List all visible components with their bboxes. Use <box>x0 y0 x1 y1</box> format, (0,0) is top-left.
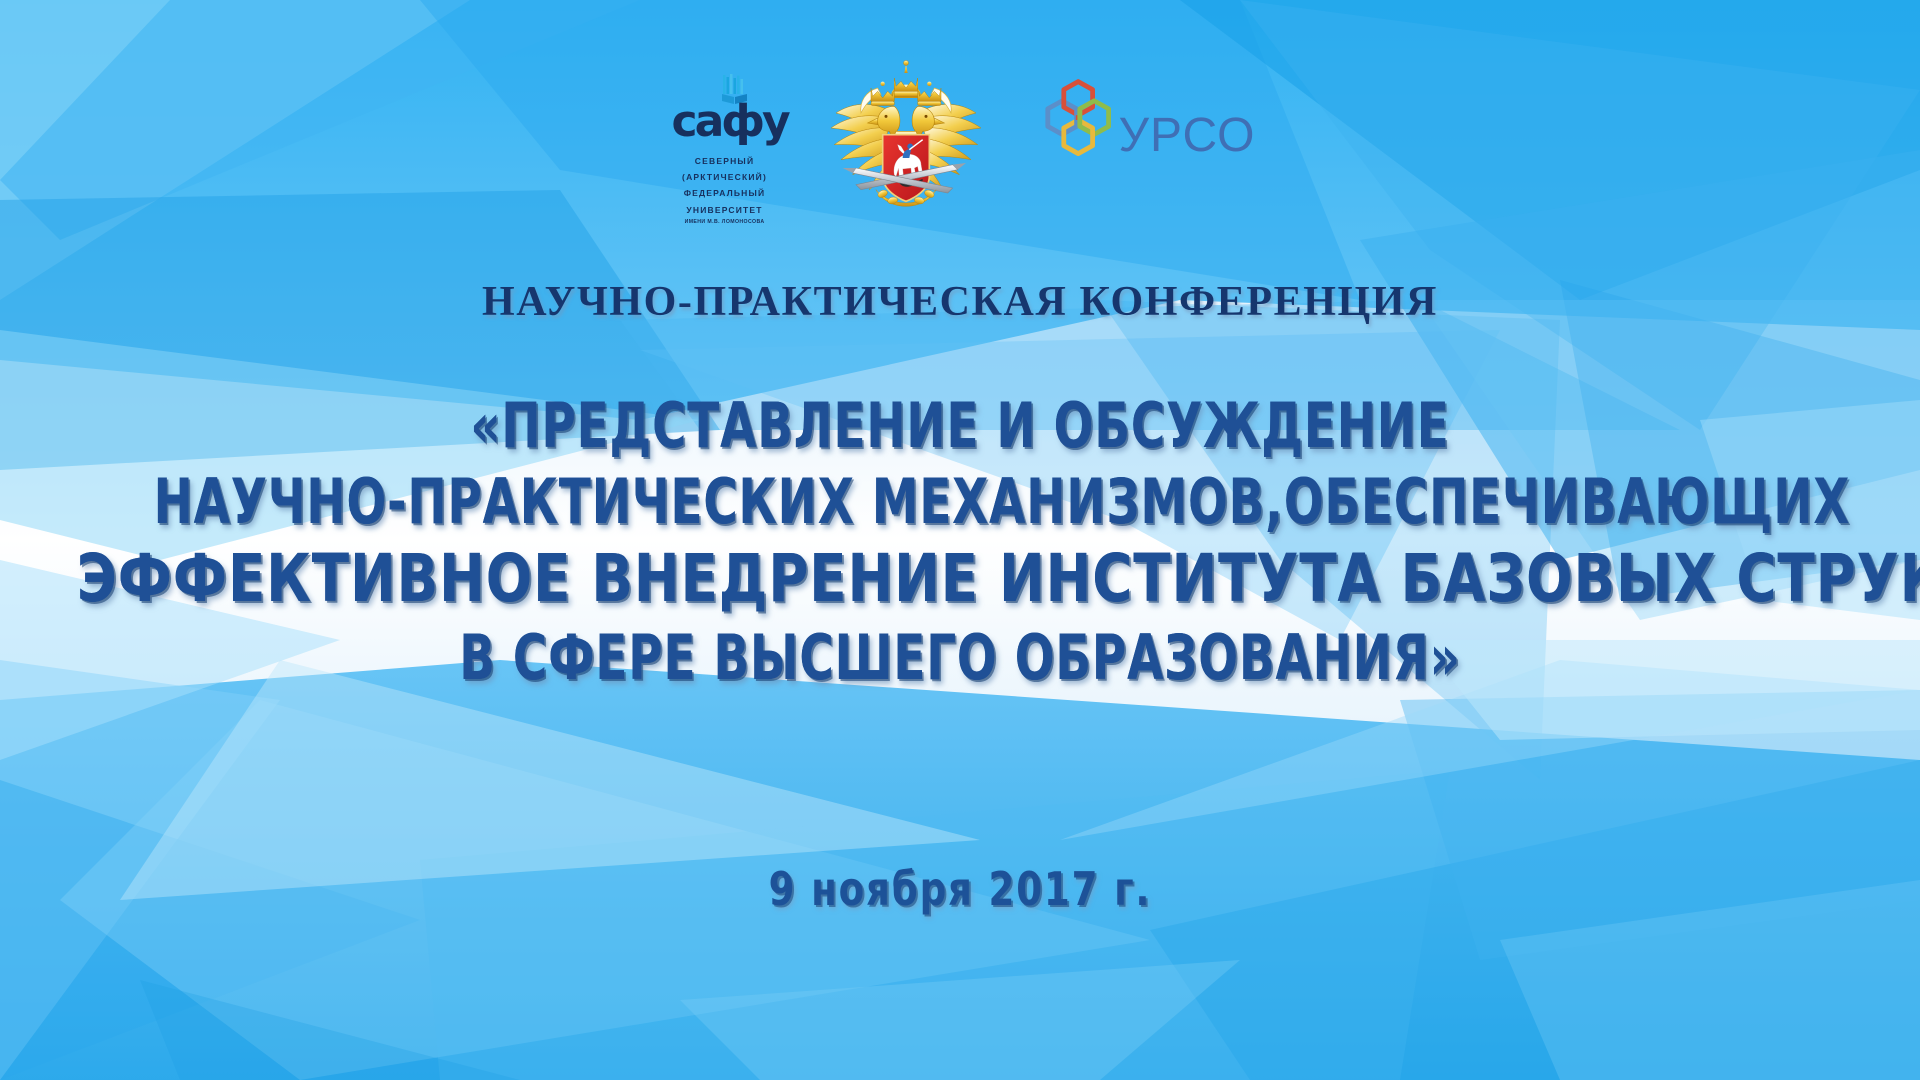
title-line-2: НАУЧНО-ПРАКТИЧЕСКИХ МЕХАНИЗМОВ,ОБЕСПЕЧИВ… <box>154 464 1767 540</box>
russian-double-headed-eagle-emblem-icon <box>821 58 991 208</box>
safu-subtitle-line5: имени М.В. Ломоносова <box>685 218 765 226</box>
conference-date: 9 ноября 2017 г. <box>96 862 1824 916</box>
urso-logo: УРСО <box>1027 72 1256 168</box>
title-line-3: ЭФФЕКТИВНОЕ ВНЕДРЕНИЕ ИНСТИТУТА БАЗОВЫХ … <box>77 539 1843 620</box>
urso-interlocking-hexagons-icon <box>1027 72 1123 168</box>
safu-subtitle-line4: УНИВЕРСИТЕТ <box>686 204 762 217</box>
safu-subtitle-line1: СЕВЕРНЫЙ <box>695 155 754 168</box>
eagle-center-crown <box>892 61 919 97</box>
safu-subtitle-line2: (АРКТИЧЕСКИЙ) <box>682 171 767 184</box>
safu-mark: сафу <box>666 74 784 152</box>
safu-subtitle-line3: ФЕДЕРАЛЬНЫЙ <box>684 187 766 200</box>
safu-logo: сафу СЕВЕРНЫЙ (АРКТИЧЕСКИЙ) ФЕДЕРАЛЬНЫЙ … <box>665 62 785 226</box>
urso-wordmark: УРСО <box>1119 108 1256 163</box>
title-line-1: «ПРЕДСТАВЛЕНИЕ И ОБСУЖДЕНИЕ <box>154 388 1767 464</box>
title-line-4: В СФЕРЕ ВЫСШЕГО ОБРАЗОВАНИЯ» <box>154 620 1767 696</box>
ministry-emblem-logo <box>821 58 991 203</box>
conference-banner: сафу СЕВЕРНЫЙ (АРКТИЧЕСКИЙ) ФЕДЕРАЛЬНЫЙ … <box>0 0 1920 1080</box>
conference-title: «ПРЕДСТАВЛЕНИЕ И ОБСУЖДЕНИЕ НАУЧНО-ПРАКТ… <box>0 388 1920 695</box>
st-george-shield <box>882 135 929 202</box>
safu-wordmark: сафу <box>672 100 788 144</box>
logo-row: сафу СЕВЕРНЫЙ (АРКТИЧЕСКИЙ) ФЕДЕРАЛЬНЫЙ … <box>0 62 1920 222</box>
conference-subtitle: НАУЧНО-ПРАКТИЧЕСКАЯ КОНФЕРЕНЦИЯ <box>0 278 1920 326</box>
